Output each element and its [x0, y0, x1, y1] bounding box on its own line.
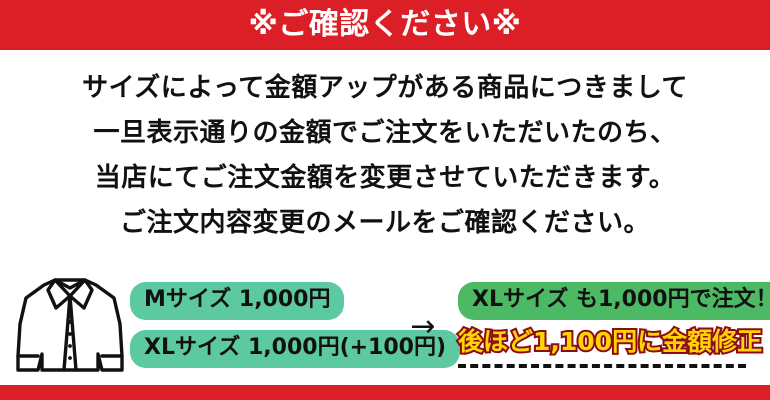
notice-line-4: ご注文内容変更のメールをご確認ください。 — [0, 201, 770, 246]
price-pill-m-size: Mサイズ 1,000円 — [130, 282, 344, 320]
bottom-red-bar — [0, 385, 770, 400]
top-red-banner: ※ご確認ください※ — [0, 0, 770, 50]
price-pill-xl-order: XLサイズ も1,000円で注文！ — [458, 282, 770, 320]
right-arrow-icon: → — [400, 312, 446, 342]
dress-shirt-icon — [14, 270, 126, 378]
price-comparison-row: Mサイズ 1,000円 XLサイズ 1,000円(+100円) → XLサイズ … — [0, 268, 770, 380]
dashed-underline — [458, 364, 746, 368]
notice-line-1: サイズによって金額アップがある商品につきまして — [0, 66, 770, 111]
after-price-group: XLサイズ も1,000円で注文！ 後ほど1,100円に金額修正 — [458, 282, 770, 368]
notice-line-2: 一旦表示通りの金額でご注文をいただいたのち、 — [0, 111, 770, 156]
banner-title: ※ご確認ください※ — [249, 10, 522, 40]
price-correction-text: 後ほど1,100円に金額修正 — [458, 326, 762, 358]
notice-line-3: 当店にてご注文金額を変更させていただきます。 — [0, 156, 770, 201]
price-correction-note: 後ほど1,100円に金額修正 — [458, 326, 762, 368]
notice-paragraph: サイズによって金額アップがある商品につきまして 一旦表示通りの金額でご注文をいた… — [0, 66, 770, 246]
notice-banner-image: ※ご確認ください※ サイズによって金額アップがある商品につきまして 一旦表示通り… — [0, 0, 770, 400]
